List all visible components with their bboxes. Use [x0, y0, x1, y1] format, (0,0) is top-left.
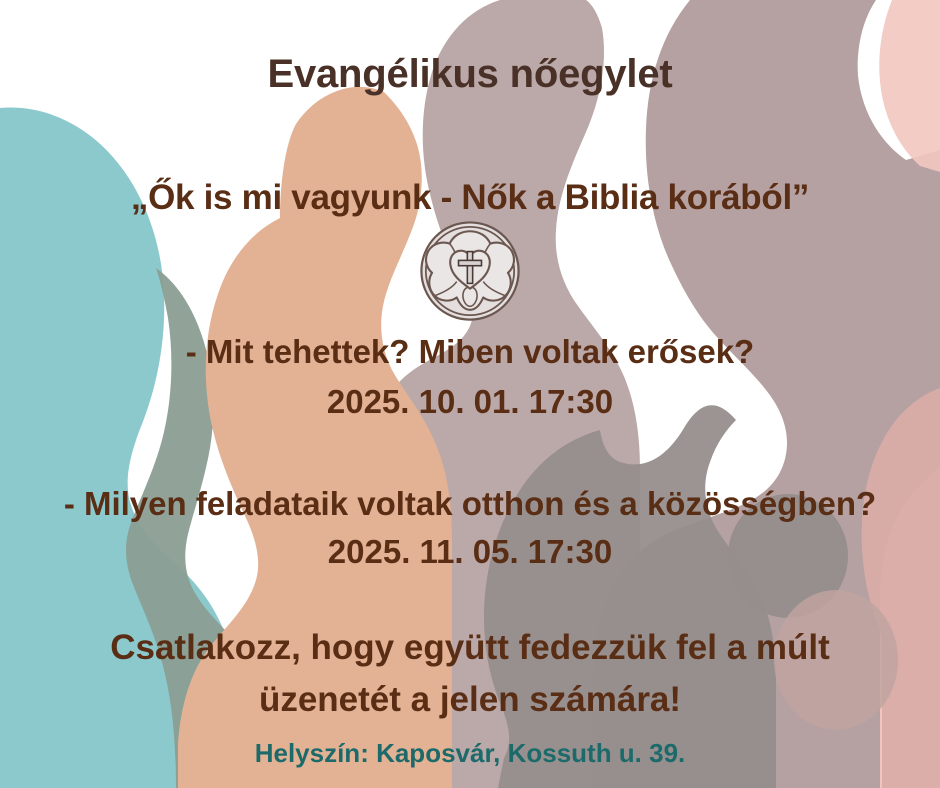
poster-subtitle: „Ők is mi vagyunk - Nők a Biblia korából…	[0, 178, 940, 218]
call-to-action-line-1: Csatlakozz, hogy együtt fedezzük fel a m…	[0, 628, 940, 668]
event-1-question: - Mit tehettek? Miben voltak erősek?	[0, 333, 940, 371]
event-1-datetime: 2025. 10. 01. 17:30	[0, 383, 940, 421]
event-2-question: - Milyen feladataik voltak otthon és a k…	[0, 485, 940, 523]
poster-content: Evangélikus nőegylet „Ők is mi vagyunk -…	[0, 0, 940, 788]
luther-rose-icon	[417, 218, 523, 324]
luther-rose-emblem	[417, 218, 523, 324]
venue-text: Helyszín: Kaposvár, Kossuth u. 39.	[0, 738, 940, 769]
poster-canvas: Evangélikus nőegylet „Ők is mi vagyunk -…	[0, 0, 940, 788]
call-to-action-line-2: üzenetét a jelen számára!	[0, 680, 940, 720]
page-title: Evangélikus nőegylet	[0, 52, 940, 97]
event-2-datetime: 2025. 11. 05. 17:30	[0, 533, 940, 571]
